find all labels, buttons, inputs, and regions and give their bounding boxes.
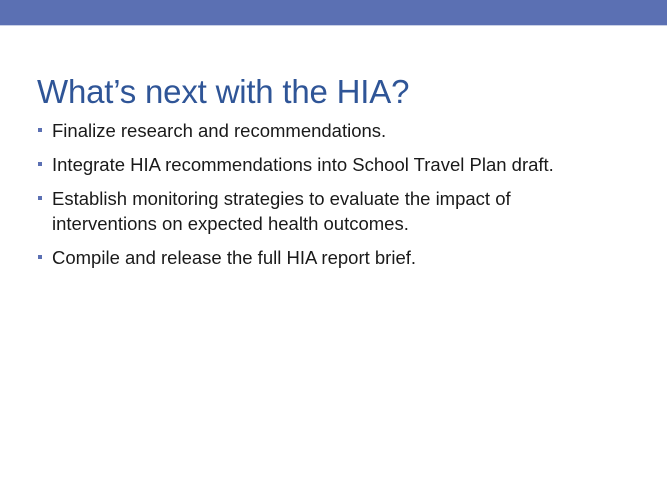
page-title: What’s next with the HIA?	[37, 72, 637, 112]
slide-accent-band	[0, 0, 667, 25]
list-item: Establish monitoring strategies to evalu…	[37, 186, 607, 236]
bullet-dot-icon	[38, 162, 42, 166]
bullet-dot-icon	[38, 255, 42, 259]
list-item: Finalize research and recommendations.	[37, 118, 607, 143]
list-item: Integrate HIA recommendations into Schoo…	[37, 152, 607, 177]
list-item-label: Compile and release the full HIA report …	[52, 245, 607, 270]
presentation-slide: What’s next with the HIA? Finalize resea…	[0, 0, 667, 500]
slide-accent-band-underline	[0, 25, 667, 26]
bullet-dot-icon	[38, 128, 42, 132]
list-item-label: Integrate HIA recommendations into Schoo…	[52, 152, 607, 177]
bullet-list: Finalize research and recommendations. I…	[37, 118, 607, 279]
list-item-label: Finalize research and recommendations.	[52, 118, 607, 143]
list-item: Compile and release the full HIA report …	[37, 245, 607, 270]
bullet-dot-icon	[38, 196, 42, 200]
list-item-label: Establish monitoring strategies to evalu…	[52, 186, 607, 236]
